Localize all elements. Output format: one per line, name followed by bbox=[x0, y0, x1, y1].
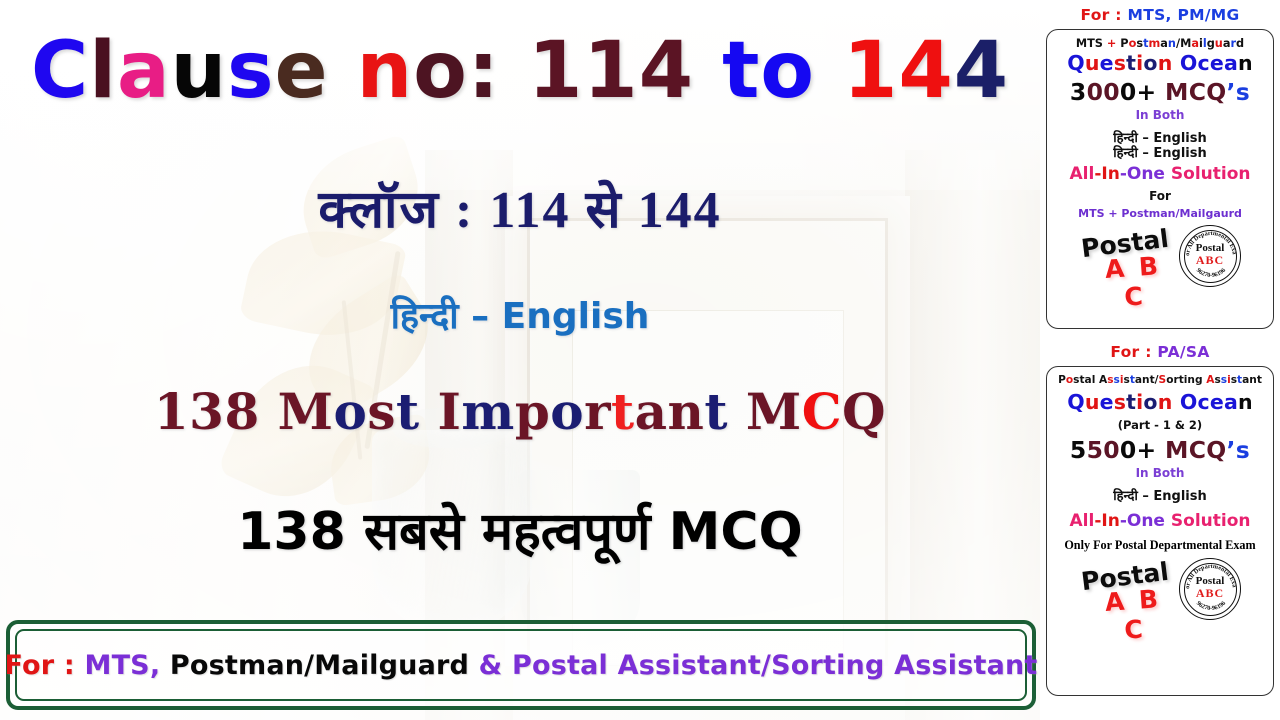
card-mts-mcq-count: 3000+ MCQ’s bbox=[1052, 78, 1268, 106]
text-run: O bbox=[1180, 51, 1198, 75]
text-run: 4 bbox=[639, 26, 694, 116]
text-run: C bbox=[31, 26, 89, 116]
logo-word-abc: A B C bbox=[1095, 583, 1173, 646]
text-run: t bbox=[1126, 51, 1136, 75]
text-run: ’s bbox=[1227, 78, 1251, 106]
text-run: t bbox=[1126, 390, 1136, 414]
main-content: Clause no: 114 to 144 क्लॉज : 114 से 144… bbox=[0, 0, 1040, 720]
postal-abc-stamp-icon: For All Departmental Exam 96270-96196 Po… bbox=[1179, 225, 1241, 287]
text-run bbox=[1172, 51, 1179, 75]
text-run: a bbox=[1085, 374, 1092, 386]
text-run: A bbox=[1099, 374, 1107, 386]
text-run: t bbox=[396, 382, 420, 441]
text-run: MCQ bbox=[1165, 78, 1227, 106]
text-run bbox=[500, 26, 528, 116]
postal-abc-stamp-icon: For All Departmental Exam 96270-96196 Po… bbox=[1179, 558, 1241, 620]
text-run: u bbox=[1085, 51, 1100, 75]
text-run: g bbox=[1195, 374, 1206, 386]
text-run: 4 bbox=[954, 26, 1009, 116]
stamp-arc-bottom-text: 96270-96196 bbox=[1195, 600, 1227, 612]
page-title: Clause no: 114 to 144 bbox=[0, 26, 1040, 116]
text-run: - bbox=[1120, 164, 1127, 184]
text-run: Solution bbox=[1171, 164, 1251, 184]
text-run: For : bbox=[4, 650, 84, 681]
stamp-arc-bottom-text: 96270-96196 bbox=[1195, 267, 1227, 279]
text-run: u bbox=[1215, 37, 1223, 50]
card-pasa-exam-line: Postal Assistant/Sorting Assistant bbox=[1052, 374, 1268, 386]
text-run: M bbox=[728, 382, 802, 441]
text-run: For : bbox=[1080, 6, 1127, 24]
text-run: a bbox=[1224, 51, 1238, 75]
stamp-center: Postal ABC bbox=[1180, 576, 1240, 599]
mcq-count-english: 138 Most Important MCQ bbox=[0, 382, 1040, 441]
text-run: m bbox=[1148, 37, 1160, 50]
text-run: s bbox=[227, 26, 274, 116]
text-run: n bbox=[1238, 51, 1253, 75]
text-run: a bbox=[117, 26, 171, 116]
card-mts[interactable]: MTS + Postman/Mailguard Question Ocean 3… bbox=[1046, 29, 1274, 329]
text-run: - bbox=[1120, 511, 1127, 531]
text-run: a bbox=[1135, 374, 1142, 386]
text-run: Q bbox=[1067, 390, 1085, 414]
text-run: a bbox=[635, 382, 668, 441]
card-mts-brand: Question Ocean bbox=[1052, 51, 1268, 75]
text-run: In bbox=[1101, 511, 1119, 531]
text-run: n bbox=[1168, 37, 1176, 50]
text-run: 14 bbox=[843, 26, 954, 116]
logo-word-abc: A B C bbox=[1095, 250, 1173, 313]
card-pasa-lang-line-1: हिन्दी – English bbox=[1052, 486, 1268, 504]
text-run: 0 bbox=[1103, 78, 1120, 106]
text-run: + bbox=[1137, 78, 1165, 106]
text-run: 138 M bbox=[154, 382, 334, 441]
text-run: n bbox=[1238, 390, 1253, 414]
card-pasa-heading: For : PA/SA bbox=[1040, 343, 1280, 361]
text-run: Postal Assistant/Sorting Assistant bbox=[512, 650, 1038, 681]
text-run: a bbox=[1191, 37, 1199, 50]
text-run: n bbox=[1158, 390, 1173, 414]
postal-abc-logo: Postal A B C bbox=[1079, 227, 1171, 285]
text-run: l bbox=[1092, 374, 1099, 386]
text-run: c bbox=[1197, 51, 1209, 75]
text-run: e bbox=[275, 26, 329, 116]
text-run: t bbox=[611, 382, 635, 441]
postal-abc-logo: Postal A B C bbox=[1079, 560, 1171, 618]
text-run: Q bbox=[1067, 51, 1085, 75]
text-run: I bbox=[420, 382, 462, 441]
text-run: Q bbox=[842, 382, 886, 441]
card-pasa-in-both: In Both bbox=[1052, 466, 1268, 480]
text-run: s bbox=[1114, 51, 1126, 75]
text-run: P bbox=[1058, 374, 1066, 386]
text-run: One bbox=[1127, 511, 1165, 531]
promo-sidebar: For : MTS, PM/MG MTS + Postman/Mailguard… bbox=[1040, 0, 1280, 720]
text-run: e bbox=[1100, 390, 1114, 414]
text-run: r bbox=[584, 382, 611, 441]
card-pasa-logos: Postal A B C For All Departmental Exam 9… bbox=[1052, 558, 1268, 620]
card-mts-for-target: MTS + Postman/Mailgaurd bbox=[1052, 207, 1268, 220]
text-run: p bbox=[515, 382, 550, 441]
text-run: u bbox=[171, 26, 228, 116]
text-run: o bbox=[550, 382, 584, 441]
text-run: P bbox=[1120, 37, 1128, 50]
text-run: & bbox=[479, 650, 512, 681]
text-run: c bbox=[1197, 390, 1209, 414]
stamp-center-abc: ABC bbox=[1180, 587, 1240, 599]
card-pasa-all-in-one: All-In-One Solution bbox=[1052, 511, 1268, 531]
card-mts-logos: Postal A B C For All Departmental Exam 9… bbox=[1052, 225, 1268, 287]
card-mts-exam-line: MTS + Postman/Mailguard bbox=[1052, 37, 1268, 50]
text-run: e bbox=[1210, 51, 1224, 75]
subtitle-hindi: क्लॉज : 114 से 144 bbox=[0, 172, 1040, 243]
audience-banner-inner: For : MTS, Postman/Mailguard & Postal As… bbox=[15, 629, 1027, 701]
text-run: MTS, bbox=[85, 650, 170, 681]
text-run: MTS, PM/MG bbox=[1128, 6, 1240, 24]
text-run: s bbox=[367, 382, 396, 441]
text-run: 0 bbox=[1120, 436, 1137, 464]
text-run: t bbox=[1257, 374, 1262, 386]
text-run: t bbox=[704, 382, 728, 441]
language-line: हिन्दी – English bbox=[0, 290, 1040, 339]
text-run: o bbox=[1143, 390, 1157, 414]
text-run: n bbox=[1249, 374, 1257, 386]
text-run: 3 bbox=[1070, 78, 1087, 106]
stamp-center: Postal ABC bbox=[1180, 243, 1240, 266]
text-run: 0 bbox=[1103, 436, 1120, 464]
text-run: 11 bbox=[528, 26, 639, 116]
text-run bbox=[815, 26, 843, 116]
text-run: /M bbox=[1176, 37, 1191, 50]
text-run: : bbox=[468, 26, 500, 116]
text-run: e bbox=[1100, 51, 1114, 75]
card-mts-lang-line-2: हिन्दी – English bbox=[1052, 143, 1268, 161]
card-pasa-mcq-count: 5500+ MCQ’s bbox=[1052, 436, 1268, 464]
card-mts-for-label: For bbox=[1052, 189, 1268, 203]
svg-text:96270-96196: 96270-96196 bbox=[1195, 267, 1227, 279]
text-run: All bbox=[1070, 164, 1095, 184]
text-run: + bbox=[1107, 37, 1120, 50]
text-run: C bbox=[802, 382, 842, 441]
text-run: n bbox=[1158, 51, 1173, 75]
text-run: Postman/Mailguard bbox=[170, 650, 479, 681]
audience-banner: For : MTS, Postman/Mailguard & Postal As… bbox=[6, 620, 1036, 710]
text-run: o bbox=[413, 26, 468, 116]
text-run: O bbox=[1180, 390, 1198, 414]
text-run: m bbox=[461, 382, 514, 441]
svg-text:96270-96196: 96270-96196 bbox=[1195, 600, 1227, 612]
text-run: One bbox=[1127, 164, 1165, 184]
text-run: a bbox=[1224, 390, 1238, 414]
text-run: e bbox=[1210, 390, 1224, 414]
text-run: In bbox=[1101, 164, 1119, 184]
text-run: a bbox=[1160, 37, 1168, 50]
text-run: n bbox=[1187, 374, 1195, 386]
text-run: ’s bbox=[1227, 436, 1251, 464]
text-run: n bbox=[1142, 374, 1150, 386]
text-run bbox=[329, 26, 357, 116]
text-run: u bbox=[1085, 390, 1100, 414]
text-run: 5 bbox=[1070, 436, 1087, 464]
text-run: 0 bbox=[1120, 78, 1137, 106]
card-pasa[interactable]: Postal Assistant/Sorting Assistant Quest… bbox=[1046, 366, 1274, 696]
text-run: s bbox=[1114, 390, 1126, 414]
card-mts-in-both: In Both bbox=[1052, 108, 1268, 122]
text-run: All bbox=[1070, 511, 1095, 531]
card-pasa-brand: Question Ocean bbox=[1052, 390, 1268, 414]
mcq-count-hindi: 138 सबसे महत्वपूर्ण MCQ bbox=[0, 494, 1040, 565]
card-mts-heading: For : MTS, PM/MG bbox=[1040, 6, 1280, 24]
text-run: MTS bbox=[1076, 37, 1107, 50]
audience-banner-text: For : MTS, Postman/Mailguard & Postal As… bbox=[4, 650, 1037, 681]
card-pasa-only-for: Only For Postal Departmental Exam bbox=[1052, 538, 1268, 553]
card-mts-all-in-one: All-In-One Solution bbox=[1052, 164, 1268, 184]
text-run: o bbox=[334, 382, 368, 441]
text-run: PA/SA bbox=[1157, 343, 1209, 361]
text-run: d bbox=[1236, 37, 1244, 50]
text-run: 0 bbox=[1087, 78, 1104, 106]
text-run: Solution bbox=[1171, 511, 1251, 531]
text-run: For : bbox=[1110, 343, 1157, 361]
stamp-center-abc: ABC bbox=[1180, 254, 1240, 266]
text-run: to bbox=[722, 26, 815, 116]
text-run: g bbox=[1207, 37, 1215, 50]
text-run: + bbox=[1137, 436, 1165, 464]
text-run: MCQ bbox=[1165, 436, 1227, 464]
card-pasa-part-label: (Part - 1 & 2) bbox=[1052, 418, 1268, 432]
text-run: 5 bbox=[1087, 436, 1104, 464]
text-run: o bbox=[1143, 51, 1157, 75]
text-run bbox=[694, 26, 722, 116]
text-run: n bbox=[357, 26, 414, 116]
text-run: n bbox=[668, 382, 705, 441]
text-run: l bbox=[89, 26, 117, 116]
text-run bbox=[1172, 390, 1179, 414]
